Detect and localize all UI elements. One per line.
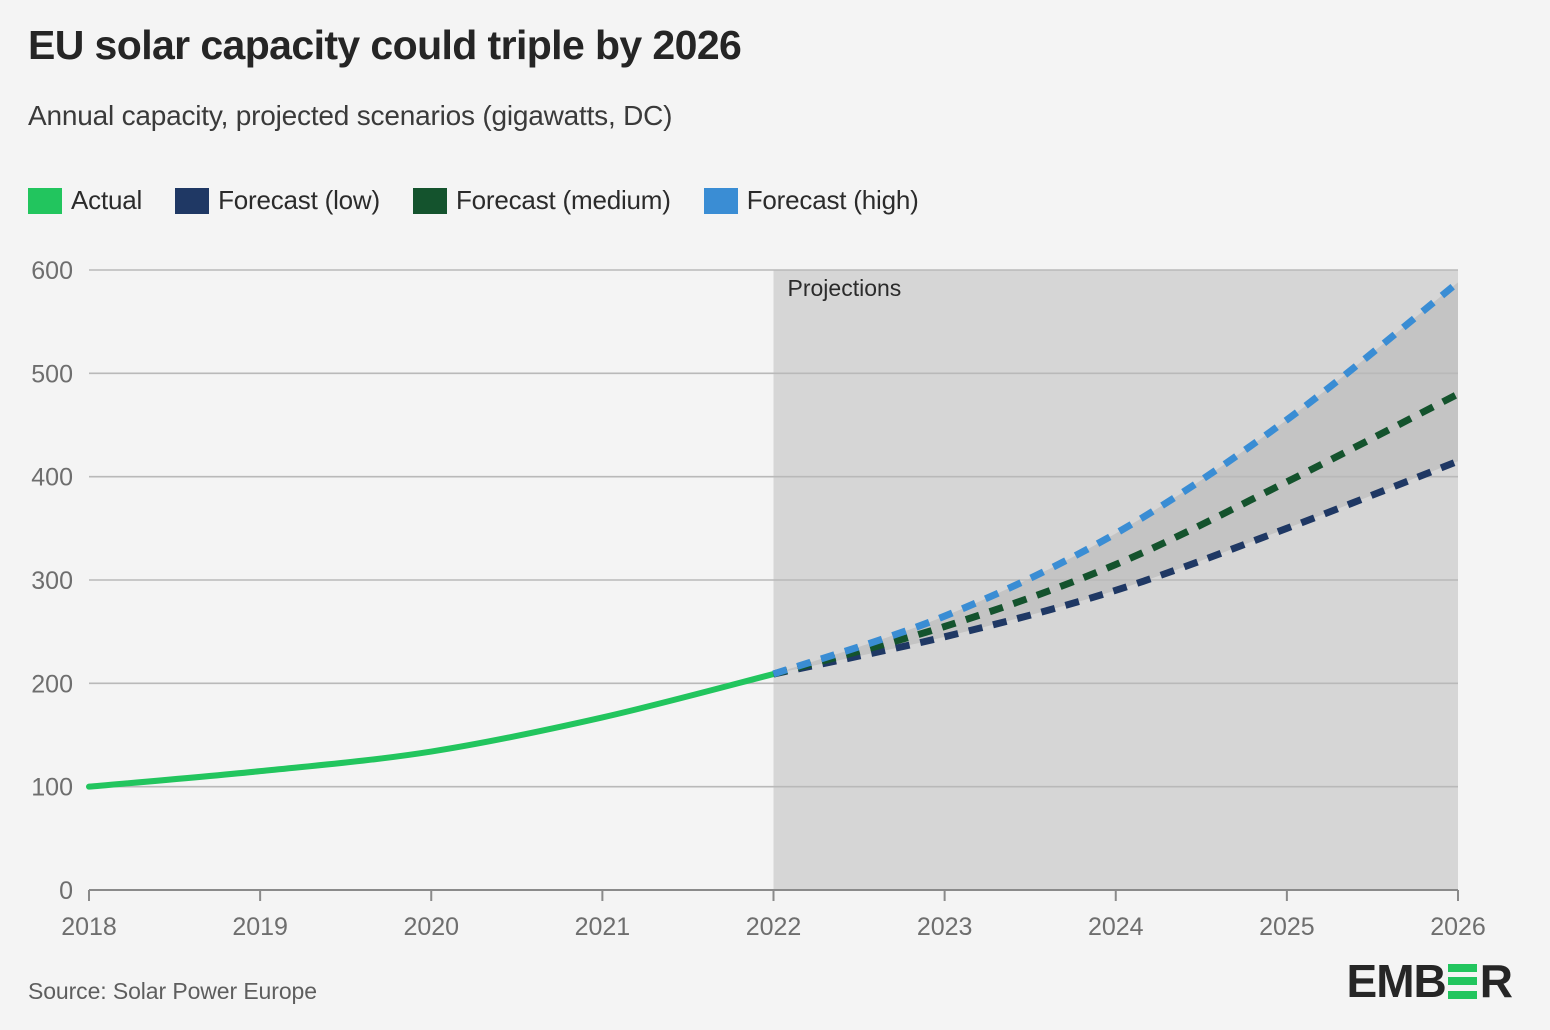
- y-tick-label-500: 500: [31, 360, 73, 388]
- ember-logo-text-1: EMB: [1347, 958, 1446, 1004]
- series-line-actual: [89, 674, 774, 787]
- ember-logo-text-2: R: [1480, 958, 1512, 1004]
- x-tick-label-2019: 2019: [232, 913, 288, 941]
- source-note: Source: Solar Power Europe: [28, 978, 317, 1005]
- projections-label: Projections: [788, 275, 902, 301]
- y-tick-label-100: 100: [31, 774, 73, 802]
- chart-area: 0100200300400500600201820192020202120222…: [0, 0, 1550, 1030]
- y-tick-label-0: 0: [59, 877, 73, 905]
- ember-logo-green-e-icon: [1448, 964, 1477, 999]
- y-tick-label-600: 600: [31, 257, 73, 285]
- y-tick-label-200: 200: [31, 670, 73, 698]
- x-tick-label-2018: 2018: [61, 913, 117, 941]
- x-tick-label-2024: 2024: [1088, 913, 1144, 941]
- x-tick-label-2020: 2020: [403, 913, 459, 941]
- x-tick-label-2026: 2026: [1430, 913, 1486, 941]
- x-tick-label-2023: 2023: [917, 913, 973, 941]
- x-tick-label-2022: 2022: [746, 913, 802, 941]
- ember-logo: EMB R: [1347, 957, 1512, 1005]
- y-tick-label-400: 400: [31, 464, 73, 492]
- y-tick-label-300: 300: [31, 567, 73, 595]
- x-tick-label-2021: 2021: [575, 913, 631, 941]
- x-tick-label-2025: 2025: [1259, 913, 1315, 941]
- line-chart: 0100200300400500600201820192020202120222…: [0, 0, 1550, 1030]
